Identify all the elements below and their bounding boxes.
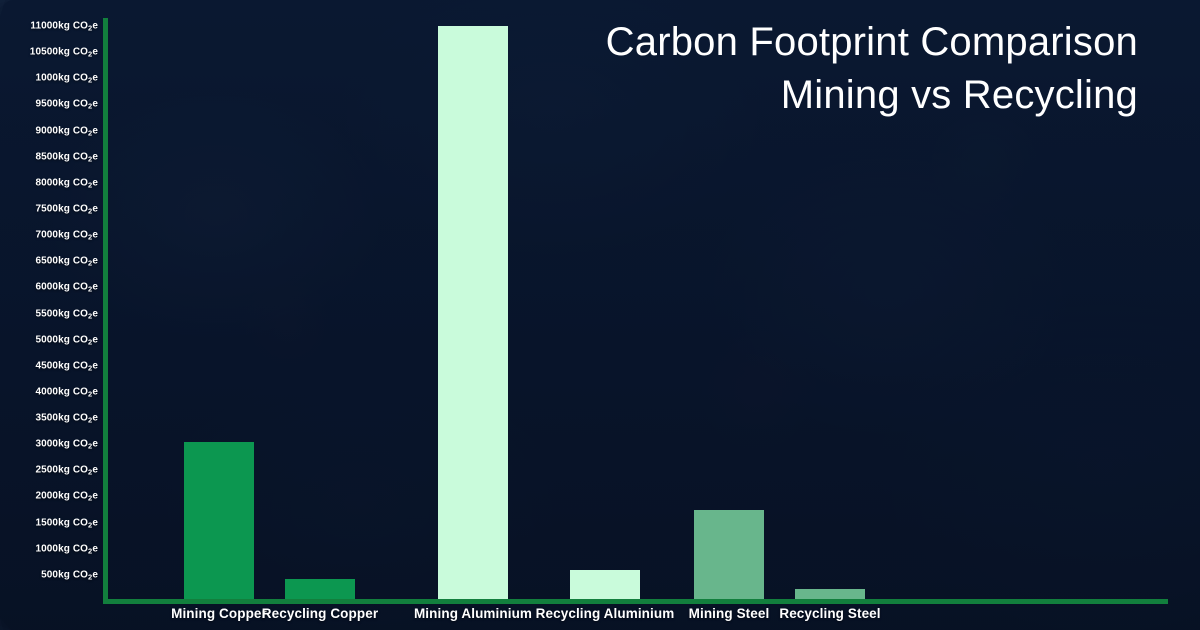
y-tick-label: 8500kg CO2e [35,151,98,162]
y-tick-label: 7500kg CO2e [35,203,98,214]
y-axis-line [103,18,108,604]
y-tick-label: 2000kg CO2e [35,491,98,502]
y-tick-label: 3500kg CO2e [35,413,98,424]
y-tick-label: 4500kg CO2e [35,360,98,371]
x-label-recycling-aluminium: Recycling Aluminium [536,606,675,621]
y-tick-label: 10500kg CO2e [30,47,98,58]
chart-canvas: Carbon Footprint Comparison Mining vs Re… [0,0,1200,630]
y-tick-label: 7000kg CO2e [35,230,98,241]
bar-recycling-aluminium[interactable] [570,570,640,601]
x-label-mining-steel: Mining Steel [689,606,770,621]
y-tick-label: 11000kg CO2e [30,21,98,32]
y-tick-label: 1500kg CO2e [35,517,98,528]
y-tick-label: 3000kg CO2e [35,439,98,450]
y-tick-label: 9500kg CO2e [35,99,98,110]
x-label-recycling-copper: Recycling Copper [262,606,378,621]
x-axis-category-labels: Mining CopperRecycling CopperMining Alum… [0,606,1200,630]
y-tick-label: 4000kg CO2e [35,386,98,397]
x-axis-baseline [103,599,1168,604]
y-axis-tick-labels: 500kg CO2e1000kg CO2e1500kg CO2e2000kg C… [0,0,98,630]
y-tick-label: 6500kg CO2e [35,256,98,267]
bar-recycling-copper[interactable] [285,579,355,601]
y-tick-label: 9000kg CO2e [35,125,98,136]
x-label-mining-copper: Mining Copper [171,606,267,621]
title-line-2: Mining vs Recycling [606,69,1138,122]
y-tick-label: 1000kg CO2e [35,543,98,554]
bar-mining-copper[interactable] [184,442,254,601]
title-line-1: Carbon Footprint Comparison [606,16,1138,69]
x-label-mining-aluminium: Mining Aluminium [414,606,532,621]
y-tick-label: 500kg CO2e [41,569,98,580]
y-tick-label: 1000kg CO2e [35,73,98,84]
chart-title: Carbon Footprint Comparison Mining vs Re… [606,16,1138,122]
y-tick-label: 5000kg CO2e [35,334,98,345]
y-tick-label: 2500kg CO2e [35,465,98,476]
bar-mining-aluminium[interactable] [438,26,508,601]
y-tick-label: 8000kg CO2e [35,177,98,188]
y-tick-label: 5500kg CO2e [35,308,98,319]
y-tick-label: 6000kg CO2e [35,282,98,293]
bar-mining-steel[interactable] [694,510,764,601]
x-label-recycling-steel: Recycling Steel [779,606,880,621]
